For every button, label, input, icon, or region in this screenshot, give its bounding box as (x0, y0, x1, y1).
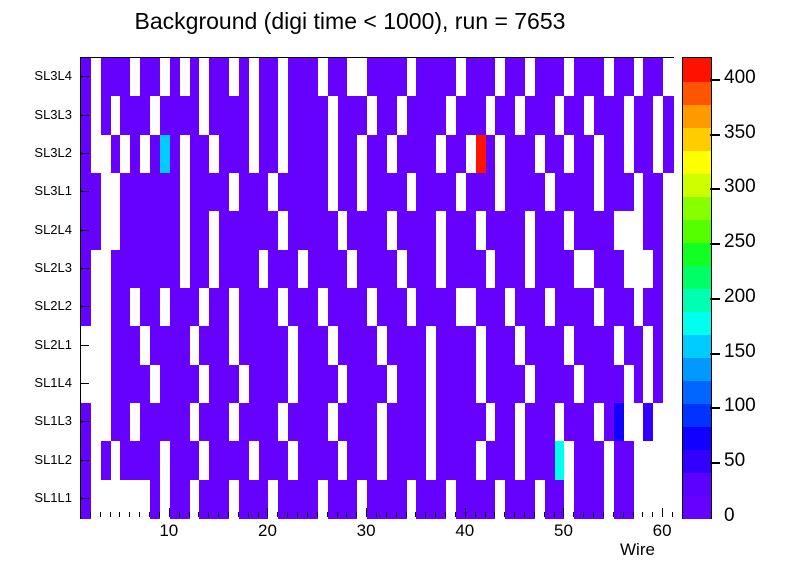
heatmap-cell (604, 250, 614, 289)
heatmap-cell (199, 58, 209, 97)
heatmap-cell (120, 135, 130, 174)
heatmap-cell (288, 250, 298, 289)
heatmap-cell (624, 441, 634, 480)
heatmap-cell (456, 288, 466, 327)
heatmap-cell (416, 288, 426, 327)
y-axis-label: SL2L2 (10, 298, 72, 313)
heatmap-cell (308, 250, 318, 289)
heatmap-cell (140, 441, 150, 480)
heatmap-cell (545, 135, 555, 174)
heatmap-cell (624, 58, 634, 97)
heatmap-cell (624, 96, 634, 135)
heatmap-cell (643, 288, 653, 327)
heatmap-cell (564, 135, 574, 174)
heatmap-cell (663, 288, 673, 327)
heatmap-cell (456, 135, 466, 174)
colorbar-tick-label: 400 (724, 67, 756, 89)
heatmap-cell (436, 250, 446, 289)
colorbar-band (683, 311, 711, 335)
heatmap-cell (219, 173, 229, 212)
heatmap-cell (515, 135, 525, 174)
heatmap-cell (643, 441, 653, 480)
heatmap-cell (663, 211, 673, 250)
heatmap-cell (140, 173, 150, 212)
x-axis-tick-minor (376, 512, 377, 517)
x-axis-tick-minor (198, 512, 199, 517)
heatmap-cell (288, 135, 298, 174)
colorbar-tick-label: 200 (724, 286, 756, 308)
heatmap-cell (436, 96, 446, 135)
heatmap-cell (328, 135, 338, 174)
heatmap-cell (436, 173, 446, 212)
x-axis-tick-minor (277, 512, 278, 517)
x-axis-tick-minor (337, 512, 338, 517)
heatmap-cell (120, 441, 130, 480)
heatmap-cell (101, 211, 111, 250)
heatmap-cell (268, 326, 278, 365)
heatmap-cell (436, 326, 446, 365)
heatmap-cell (436, 58, 446, 97)
colorbar-tick-label: 150 (724, 341, 756, 363)
heatmap-cell (101, 96, 111, 135)
heatmap-cell (367, 173, 377, 212)
x-axis-tick-minor (406, 512, 407, 517)
heatmap-cell (515, 403, 525, 442)
heatmap-cell (397, 403, 407, 442)
y-axis-tick (80, 383, 89, 384)
heatmap-cell (180, 58, 190, 97)
y-axis-label: SL3L1 (10, 183, 72, 198)
heatmap-cell (584, 441, 594, 480)
heatmap-cell (564, 250, 574, 289)
heatmap-cell (545, 173, 555, 212)
heatmap-cell (584, 211, 594, 250)
heatmap-cell (328, 58, 338, 97)
y-axis-label: SL2L3 (10, 260, 72, 275)
heatmap-cell (416, 96, 426, 135)
heatmap-cell (456, 211, 466, 250)
heatmap-cell (476, 173, 486, 212)
heatmap-cell (101, 288, 111, 327)
heatmap-cell (120, 211, 130, 250)
heatmap-cell (564, 173, 574, 212)
heatmap-cell (515, 173, 525, 212)
heatmap-cell (249, 96, 259, 135)
heatmap-cell (268, 403, 278, 442)
heatmap-cell (436, 211, 446, 250)
heatmap-cell (436, 403, 446, 442)
heatmap-cell (347, 135, 357, 174)
heatmap-cell (199, 403, 209, 442)
heatmap-cell (249, 58, 259, 97)
heatmap-cell (180, 173, 190, 212)
heatmap-cell (268, 250, 278, 289)
x-axis-tick-minor (208, 512, 209, 517)
heatmap-cell (416, 173, 426, 212)
heatmap-cell (140, 96, 150, 135)
heatmap-cell (160, 288, 170, 327)
heatmap-cell (545, 441, 555, 480)
heatmap-cell (219, 211, 229, 250)
heatmap-cell (436, 365, 446, 404)
heatmap-cell (328, 403, 338, 442)
x-axis-tick-minor (593, 512, 594, 517)
heatmap-cell (495, 403, 505, 442)
heatmap-cell (219, 135, 229, 174)
heatmap-cell (219, 326, 229, 365)
heatmap-cell (643, 326, 653, 365)
heatmap-cell (308, 58, 318, 97)
heatmap-cell (367, 58, 377, 97)
heatmap-cell (456, 326, 466, 365)
heatmap-cell (328, 211, 338, 250)
heatmap-cell (397, 96, 407, 135)
heatmap-cell (436, 441, 446, 480)
heatmap-cell (308, 211, 318, 250)
heatmap-cell (347, 326, 357, 365)
heatmap-cell (367, 288, 377, 327)
heatmap-cell (199, 365, 209, 404)
heatmap-cell (347, 96, 357, 135)
heatmap-cell (476, 58, 486, 97)
x-axis-tick-minor (119, 512, 120, 517)
heatmap-cell (663, 250, 673, 289)
colorbar-band (683, 104, 711, 128)
x-axis-tick-minor (179, 512, 180, 517)
heatmap-cell (545, 288, 555, 327)
heatmap-cell (199, 250, 209, 289)
y-axis-label: SL2L1 (10, 337, 72, 352)
heatmap-cell (584, 96, 594, 135)
x-axis-tick-minor (258, 512, 259, 517)
heatmap-cell (249, 365, 259, 404)
heatmap-cell (456, 58, 466, 97)
heatmap-cell (416, 441, 426, 480)
colorbar-tick-label: 100 (724, 395, 756, 417)
heatmap-cell (288, 403, 298, 442)
heatmap-cell (140, 211, 150, 250)
heatmap-cell (604, 288, 614, 327)
heatmap-cell (495, 173, 505, 212)
x-axis-tick-major (169, 508, 170, 517)
colorbar[interactable] (682, 57, 712, 519)
y-axis-tick (80, 230, 89, 231)
heatmap-cell (495, 250, 505, 289)
heatmap-cell (397, 288, 407, 327)
heatmap-cell (416, 403, 426, 442)
heatmap-cell (101, 365, 111, 404)
y-axis-label: SL1L1 (10, 490, 72, 505)
y-axis-label: SL3L2 (10, 145, 72, 160)
heatmap-cell (268, 211, 278, 250)
heatmap-cells[interactable] (81, 58, 673, 518)
heatmap-cell (545, 365, 555, 404)
heatmap-cell (643, 58, 653, 97)
x-axis-tick-minor (90, 512, 91, 517)
colorbar-tick-label: 0 (724, 505, 735, 527)
x-axis-tick-minor (633, 512, 634, 517)
heatmap-cell (160, 403, 170, 442)
heatmap-cell (515, 365, 525, 404)
heatmap-cell (584, 365, 594, 404)
heatmap-cell (624, 211, 634, 250)
heatmap-cell (120, 173, 130, 212)
x-axis-tick-minor (494, 512, 495, 517)
heatmap-cell (219, 58, 229, 97)
heatmap-cell (564, 441, 574, 480)
heatmap-cell (545, 96, 555, 135)
heatmap-cell (456, 365, 466, 404)
x-axis-tick-minor (297, 512, 298, 517)
colorbar-tick (710, 79, 720, 81)
x-axis-tick-minor (534, 512, 535, 517)
x-axis-tick-minor (524, 512, 525, 517)
heatmap-cell (584, 58, 594, 97)
heatmap-cell (249, 441, 259, 480)
heatmap-cell (308, 288, 318, 327)
x-axis-tick-label: 50 (533, 521, 593, 541)
heatmap-cell (584, 403, 594, 442)
x-axis-tick-minor (435, 512, 436, 517)
heatmap-cell (288, 365, 298, 404)
heatmap-cell (476, 211, 486, 250)
y-axis-label: SL3L4 (10, 68, 72, 83)
x-axis-tick-minor (228, 512, 229, 517)
x-axis-tick-minor (317, 512, 318, 517)
heatmap-cell (180, 365, 190, 404)
heatmap-cell (328, 288, 338, 327)
heatmap-cell (476, 250, 486, 289)
heatmap-cell (249, 403, 259, 442)
colorbar-band (683, 426, 711, 450)
heatmap-cell (140, 58, 150, 97)
x-axis-tick-minor (485, 512, 486, 517)
heatmap-cell (643, 96, 653, 135)
y-axis-tick (80, 76, 89, 77)
x-axis-tick-minor (396, 512, 397, 517)
heatmap-cell (564, 365, 574, 404)
heatmap-cell (545, 326, 555, 365)
heatmap-cell (347, 250, 357, 289)
heatmap-cell (397, 441, 407, 480)
x-axis-tick-minor (189, 512, 190, 517)
x-axis-tick-minor (159, 512, 160, 517)
x-axis-tick-minor (613, 512, 614, 517)
colorbar-tick (710, 462, 720, 464)
x-axis-tick-minor (346, 512, 347, 517)
heatmap-cell (160, 326, 170, 365)
heatmap-cell (604, 58, 614, 97)
heatmap-cell (604, 135, 614, 174)
heatmap-cell (564, 211, 574, 250)
colorbar-band (683, 219, 711, 243)
heatmap-cell (347, 441, 357, 480)
heatmap-cell (249, 173, 259, 212)
heatmap-cell (160, 365, 170, 404)
heatmap-cell (101, 173, 111, 212)
heatmap-cell (436, 135, 446, 174)
heatmap-plot-area[interactable] (80, 57, 674, 519)
heatmap-cell (288, 326, 298, 365)
y-axis-label: SL2L4 (10, 222, 72, 237)
colorbar-band (683, 288, 711, 312)
heatmap-cell (584, 326, 594, 365)
heatmap-cell (584, 135, 594, 174)
heatmap-cell (160, 96, 170, 135)
colorbar-band (683, 196, 711, 220)
colorbar-band (683, 81, 711, 105)
heatmap-cell (308, 326, 318, 365)
x-axis-tick-minor (100, 512, 101, 517)
x-axis-tick-minor (603, 512, 604, 517)
heatmap-cell (180, 135, 190, 174)
heatmap-cell (515, 211, 525, 250)
colorbar-band (683, 380, 711, 404)
heatmap-cell (456, 96, 466, 135)
y-axis-label: SL1L3 (10, 413, 72, 428)
colorbar-band (683, 449, 711, 473)
heatmap-cell (604, 211, 614, 250)
heatmap-cell (101, 58, 111, 97)
heatmap-cell (476, 403, 486, 442)
colorbar-band (683, 472, 711, 496)
x-axis-tick-minor (425, 512, 426, 517)
x-axis-tick-minor (80, 512, 81, 517)
heatmap-cell (604, 403, 614, 442)
heatmap-cell (495, 288, 505, 327)
heatmap-cell (436, 288, 446, 327)
y-axis-tick (80, 191, 89, 192)
heatmap-cell (643, 250, 653, 289)
colorbar-tick-label: 250 (724, 231, 756, 253)
page-title: Background (digi time < 1000), run = 765… (0, 8, 700, 35)
heatmap-cell (160, 173, 170, 212)
heatmap-cell (101, 250, 111, 289)
heatmap-cell (643, 211, 653, 250)
heatmap-cell (663, 58, 673, 97)
heatmap-cell (120, 326, 130, 365)
heatmap-cell (268, 58, 278, 97)
heatmap-cell (663, 365, 673, 404)
heatmap-cell (624, 135, 634, 174)
heatmap-cell (416, 211, 426, 250)
heatmap-cell (268, 288, 278, 327)
x-axis-tick-minor (583, 512, 584, 517)
heatmap-cell (564, 288, 574, 327)
colorbar-band (683, 334, 711, 358)
heatmap-cell (545, 211, 555, 250)
heatmap-cell (288, 211, 298, 250)
heatmap-cell (663, 96, 673, 135)
heatmap-cell (140, 326, 150, 365)
colorbar-band (683, 242, 711, 266)
colorbar-band (683, 495, 711, 519)
root-canvas: Background (digi time < 1000), run = 765… (0, 0, 796, 572)
heatmap-cell (416, 58, 426, 97)
x-axis-tick-minor (386, 512, 387, 517)
heatmap-cell (180, 96, 190, 135)
x-axis-tick-minor (672, 512, 673, 517)
heatmap-cell (604, 365, 614, 404)
heatmap-cell (219, 288, 229, 327)
heatmap-cell (416, 135, 426, 174)
heatmap-cell (624, 365, 634, 404)
x-axis-title: Wire (620, 540, 655, 560)
heatmap-cell (495, 135, 505, 174)
heatmap-cell (397, 211, 407, 250)
heatmap-cell (397, 58, 407, 97)
heatmap-cell (308, 96, 318, 135)
heatmap-cell (268, 365, 278, 404)
x-axis-tick-label: 40 (435, 521, 495, 541)
y-axis-label: SL1L2 (10, 452, 72, 467)
x-axis-tick-minor (218, 512, 219, 517)
heatmap-cell (663, 135, 673, 174)
x-axis-tick-minor (623, 512, 624, 517)
heatmap-cell (643, 135, 653, 174)
heatmap-cell (604, 173, 614, 212)
heatmap-cell (347, 173, 357, 212)
y-axis-tick (80, 306, 89, 307)
x-axis-tick-minor (248, 512, 249, 517)
heatmap-cell (249, 211, 259, 250)
heatmap-cell (288, 58, 298, 97)
heatmap-cell (564, 96, 574, 135)
heatmap-cell (140, 135, 150, 174)
heatmap-cell (397, 326, 407, 365)
heatmap-cell (545, 250, 555, 289)
colorbar-band (683, 403, 711, 427)
heatmap-cell (476, 135, 486, 174)
heatmap-cell (416, 365, 426, 404)
heatmap-cell (367, 326, 377, 365)
colorbar-tick-label: 350 (724, 122, 756, 144)
heatmap-cell (545, 58, 555, 97)
heatmap-cell (249, 250, 259, 289)
heatmap-cell (308, 403, 318, 442)
heatmap-cell (328, 441, 338, 480)
heatmap-cell (367, 250, 377, 289)
heatmap-cell (643, 403, 653, 442)
x-axis-tick-major (563, 508, 564, 517)
heatmap-cell (584, 288, 594, 327)
x-axis-tick-label: 10 (139, 521, 199, 541)
heatmap-cell (120, 365, 130, 404)
x-axis-tick-major (267, 508, 268, 517)
heatmap-cell (367, 211, 377, 250)
x-axis-tick-label: 20 (237, 521, 297, 541)
heatmap-cell (564, 58, 574, 97)
heatmap-cell (397, 173, 407, 212)
x-axis-tick-major (662, 508, 663, 517)
heatmap-cell (219, 96, 229, 135)
heatmap-cell (663, 403, 673, 442)
heatmap-cell (288, 173, 298, 212)
heatmap-cell (495, 365, 505, 404)
heatmap-cell (199, 96, 209, 135)
heatmap-cell (367, 135, 377, 174)
heatmap-cell (476, 441, 486, 480)
heatmap-cell (308, 135, 318, 174)
x-axis-tick-minor (504, 512, 505, 517)
heatmap-cell (180, 441, 190, 480)
heatmap-cell (624, 173, 634, 212)
heatmap-cell (643, 173, 653, 212)
heatmap-cell (515, 58, 525, 97)
heatmap-cell (515, 326, 525, 365)
heatmap-cell (456, 250, 466, 289)
heatmap-cell (604, 441, 614, 480)
